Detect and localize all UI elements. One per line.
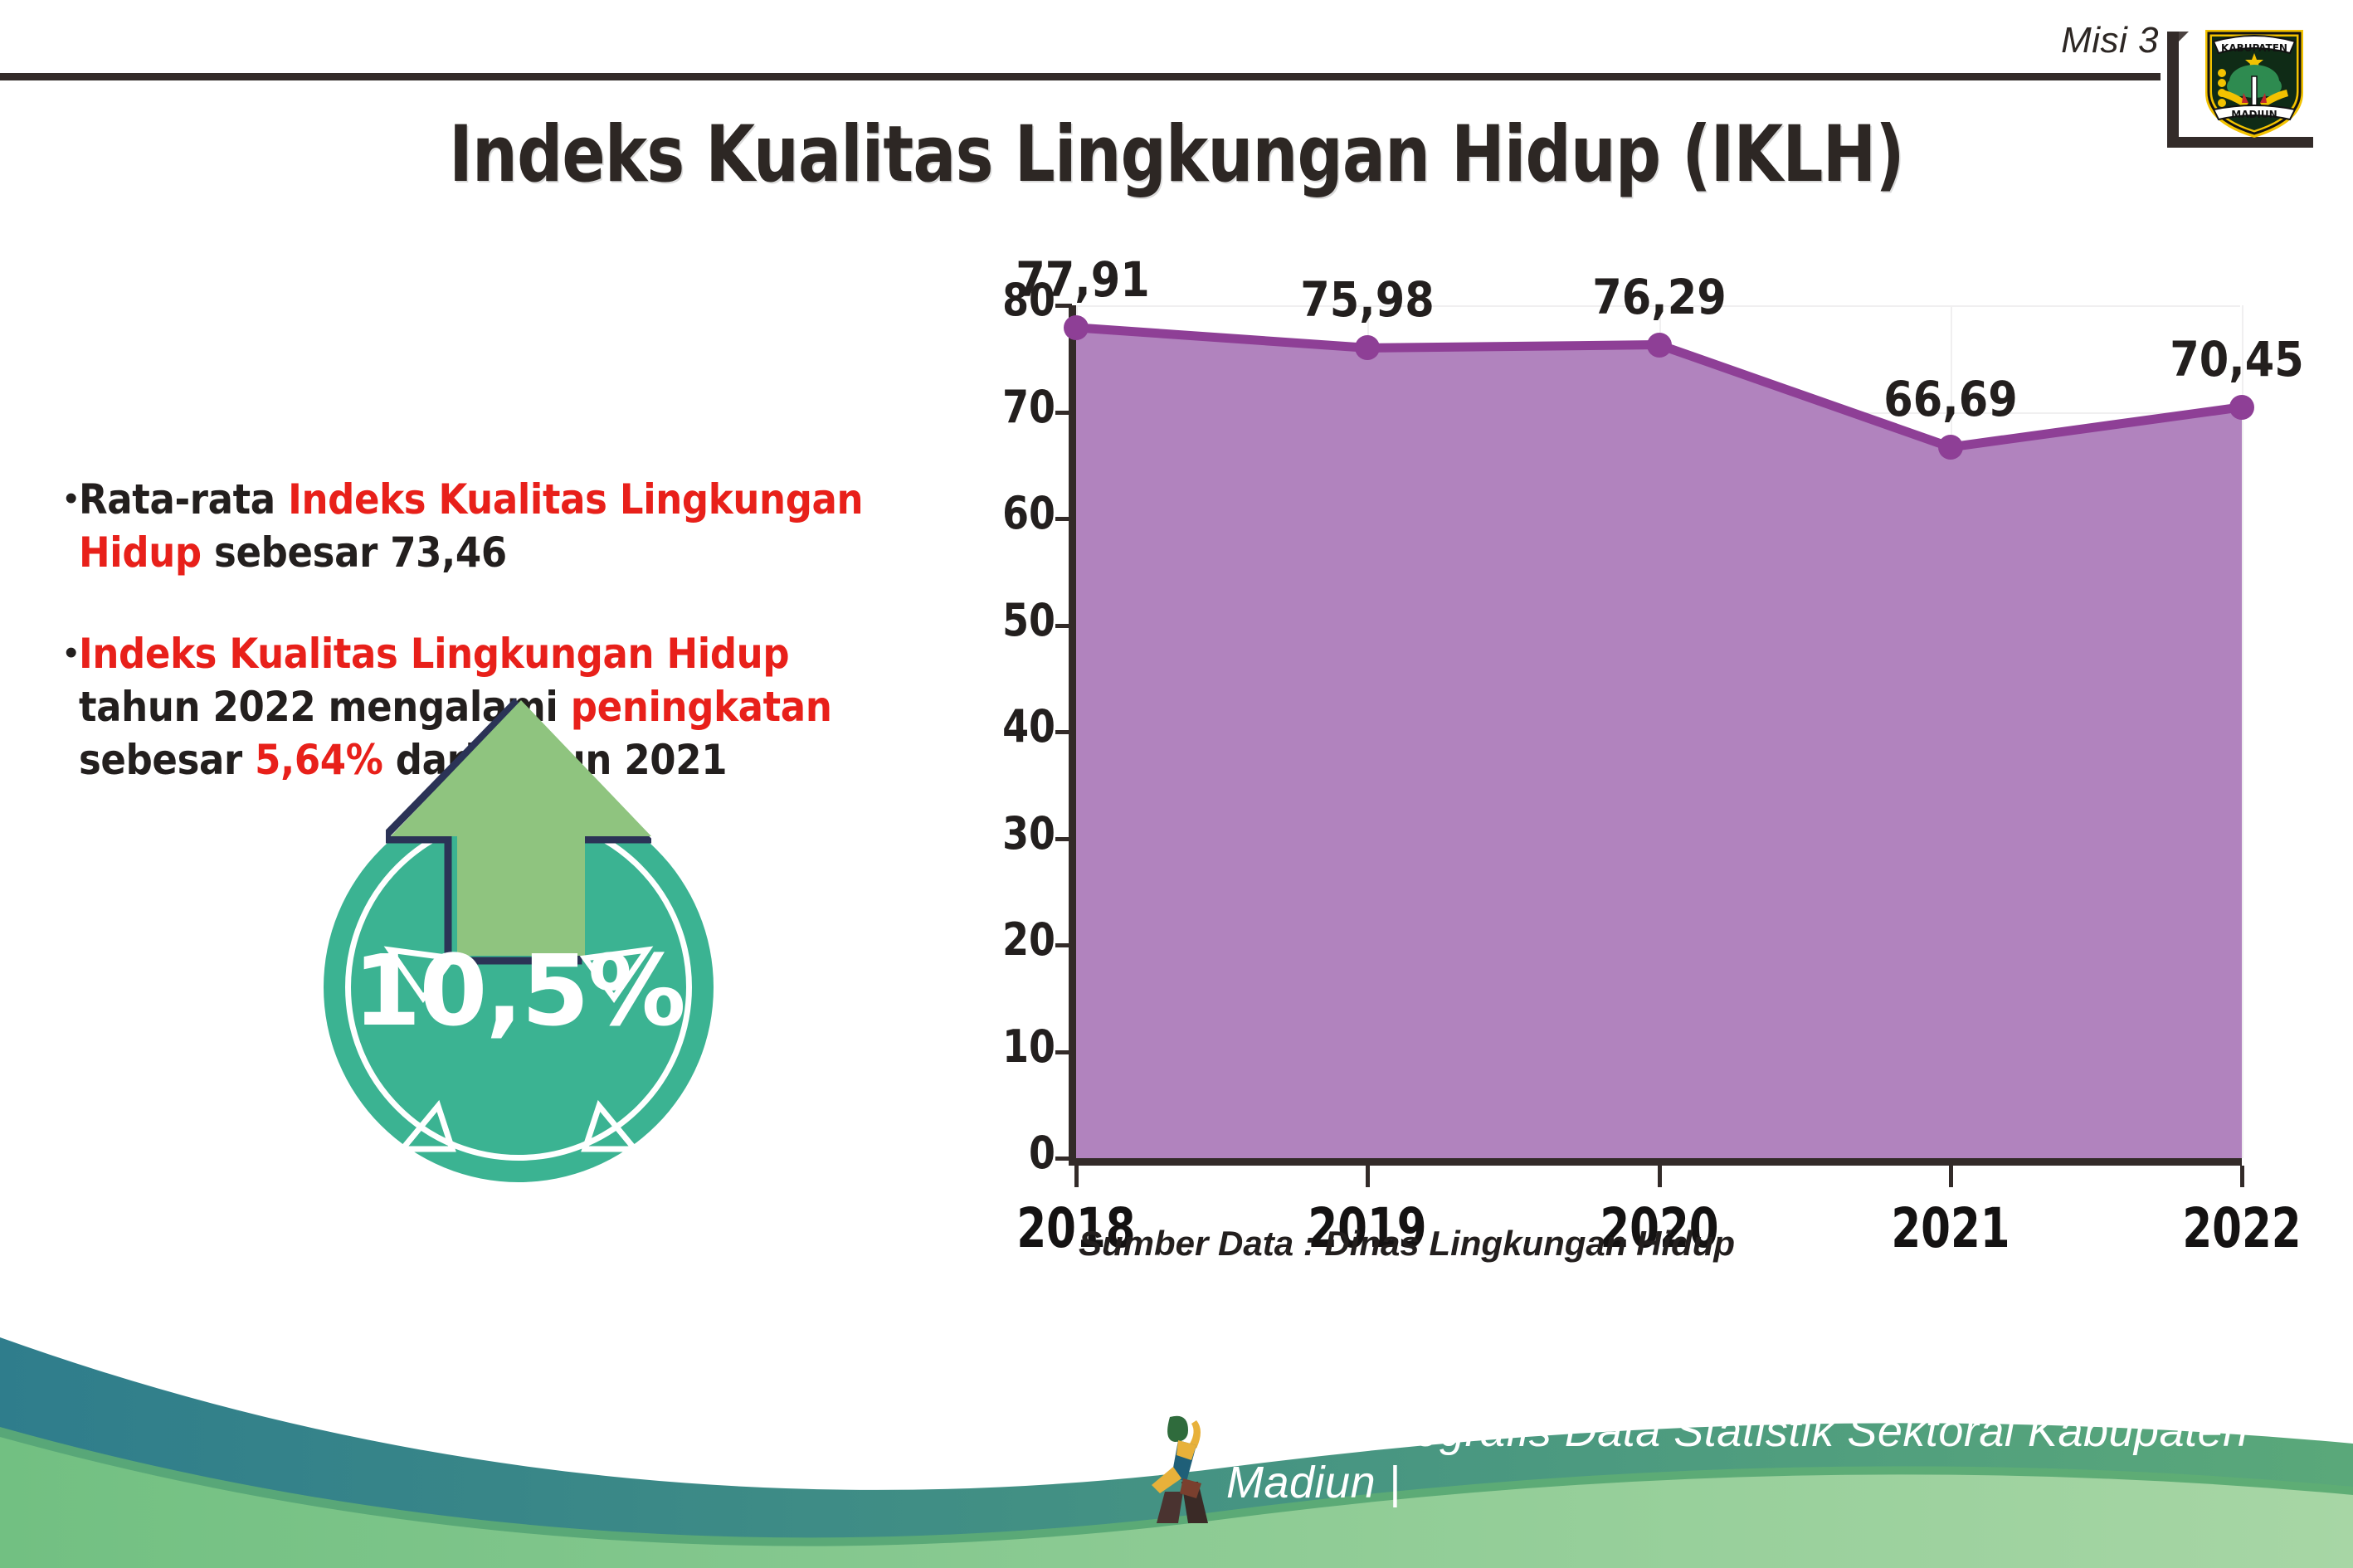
bullet-plain: sebesar 73,46 — [202, 528, 507, 577]
bullet-item: •Rata-rata Indeks Kualitas Lingkungan Hi… — [65, 473, 986, 579]
data-point-marker — [1064, 315, 1089, 340]
y-tick-label: 70 — [950, 381, 1056, 433]
y-tick-label: 60 — [950, 487, 1056, 539]
svg-text:MADIUN: MADIUN — [2231, 109, 2277, 120]
y-tick-label: 10 — [950, 1020, 1056, 1073]
kabupaten-madiun-crest-icon: KABUPATEN MADIUN — [2197, 17, 2312, 141]
bullet-highlight: 5,64% — [256, 736, 383, 784]
iklh-area-chart: 01020304050607080 20182019202020212022 7… — [979, 290, 2273, 1178]
bullet-plain: sebesar — [79, 736, 255, 784]
x-tick-label: 2021 — [1866, 1196, 2034, 1260]
data-point-marker — [1647, 333, 1672, 358]
bullet-highlight: Indeks Kualitas Lingkungan Hidup — [79, 630, 789, 678]
data-point-label: 66,69 — [1841, 371, 2060, 427]
chart-source-note: Sumber Data : Dinas Lingkungan Hidup — [1079, 1224, 1735, 1264]
y-tick-label: 20 — [950, 913, 1056, 966]
y-tick-label: 0 — [950, 1127, 1056, 1179]
page-title: Indeks Kualitas Lingkungan Hidup (IKLH) — [212, 110, 2141, 200]
bullet-marker: • — [65, 627, 77, 786]
misi-label: Misi 3 — [2061, 20, 2159, 61]
badge-percent-label: 10,5% — [324, 933, 714, 1048]
bullet-text: Rata-rata Indeks Kualitas Lingkungan Hid… — [79, 473, 894, 579]
chart-area-series — [979, 290, 2273, 1178]
statistics-figure-logo-icon — [1145, 1412, 1236, 1528]
data-point-label: 70,45 — [2127, 331, 2346, 387]
y-tick-label: 40 — [950, 700, 1056, 752]
chart-x-axis — [1069, 1158, 2242, 1166]
y-tick-label: 50 — [950, 594, 1056, 646]
data-point-marker — [1938, 435, 1963, 460]
data-point-marker — [2229, 395, 2254, 420]
chart-y-axis — [1069, 305, 1076, 1161]
bullet-marker: • — [65, 473, 77, 579]
data-point-label: 76,29 — [1550, 269, 1769, 325]
y-tick-label: 30 — [950, 807, 1056, 859]
data-point-label: 75,98 — [1258, 271, 1477, 328]
footer-caption: Media Infografis Data Statistik Sektoral… — [1226, 1405, 2353, 1508]
data-point-label: 77,91 — [973, 251, 1192, 308]
increase-badge: 10,5% — [324, 792, 714, 1182]
header-divider — [0, 73, 2161, 80]
area-fill — [1076, 328, 2242, 1158]
x-tick-label: 2022 — [2158, 1196, 2326, 1260]
svg-text:KABUPATEN: KABUPATEN — [2221, 42, 2287, 54]
bullet-plain: Rata-rata — [79, 475, 288, 523]
